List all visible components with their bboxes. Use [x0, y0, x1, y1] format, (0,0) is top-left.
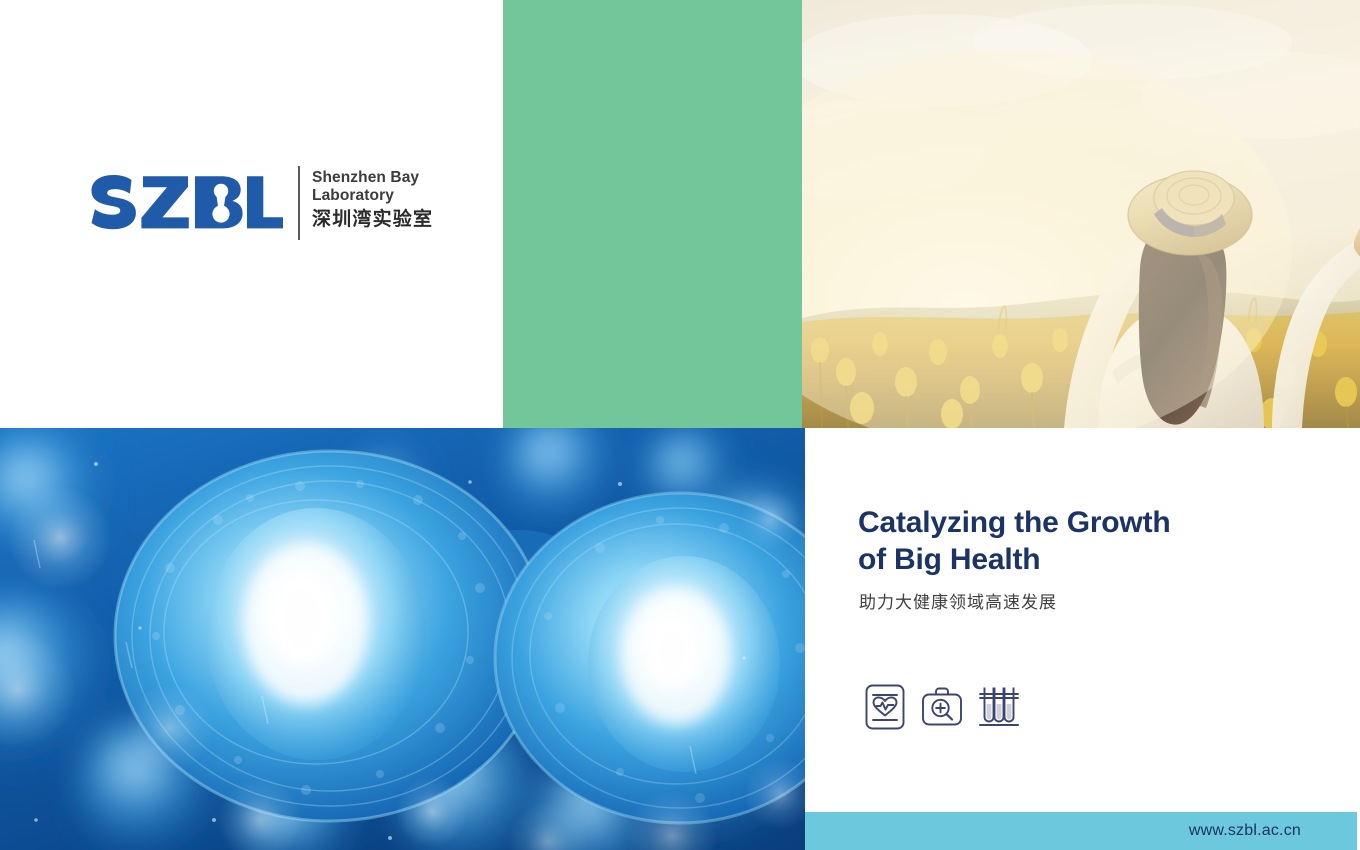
icon-row [861, 682, 1023, 732]
medical-kit-magnifier-icon[interactable] [918, 682, 966, 732]
brand-name-en-line1: Shenzhen Bay [312, 169, 433, 187]
green-accent-panel [503, 0, 802, 428]
test-tube-rack-icon[interactable] [975, 682, 1023, 732]
poster-page: Shenzhen Bay Laboratory 深圳湾实验室 [0, 0, 1360, 850]
footer-bar: www.szbl.ac.cn [805, 812, 1357, 850]
cell-photo: BIO-INFORMATION 生命信息 [0, 428, 805, 850]
field-sunset-photo-icon [802, 0, 1360, 428]
health-report-heart-icon[interactable] [861, 682, 909, 732]
hero-photo [802, 0, 1360, 428]
headline-line2: of Big Health [858, 543, 1040, 576]
website-url[interactable]: www.szbl.ac.cn [1189, 812, 1301, 850]
headline: Catalyzing the Growth of Big Health [858, 504, 1171, 578]
szbl-logo-icon [88, 166, 284, 240]
brand-name-en-line2: Laboratory [312, 187, 433, 205]
cell-division-photo-icon [0, 428, 805, 850]
subheadline: 助力大健康领域高速发展 [859, 591, 1057, 615]
headline-line1: Catalyzing the Growth [858, 506, 1171, 539]
brand-name-cn: 深圳湾实验室 [312, 207, 433, 232]
logo-divider [298, 166, 300, 240]
message-panel: Catalyzing the Growth of Big Health 助力大健… [805, 428, 1360, 812]
logo-panel: Shenzhen Bay Laboratory 深圳湾实验室 [0, 0, 503, 428]
brand-name-block: Shenzhen Bay Laboratory 深圳湾实验室 [312, 166, 433, 232]
brand-lockup[interactable]: Shenzhen Bay Laboratory 深圳湾实验室 [88, 166, 433, 240]
